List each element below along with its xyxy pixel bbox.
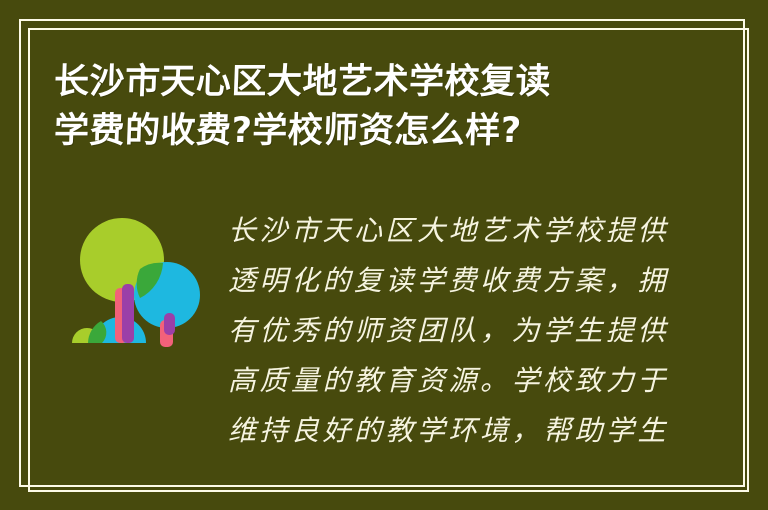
trees-illustration bbox=[70, 212, 202, 362]
poster-canvas: 长沙市天心区大地艺术学校复读 学费的收费?学校师资怎么样? bbox=[0, 0, 768, 510]
bush-overlap-shape-2 bbox=[88, 321, 106, 343]
body-line-3: 有优秀的师资团队，为学生提供 bbox=[228, 306, 678, 356]
body-line-1: 长沙市天心区大地艺术学校提供 bbox=[228, 206, 678, 256]
big-tree-trunk-purple bbox=[122, 284, 134, 343]
body-line-5: 维持良好的教学环境，帮助学生 bbox=[228, 406, 678, 456]
poster-title: 长沙市天心区大地艺术学校复读 学费的收费?学校师资怎么样? bbox=[54, 58, 674, 156]
title-line-1: 长沙市天心区大地艺术学校复读 bbox=[53, 58, 675, 107]
poster-body-text: 长沙市天心区大地艺术学校提供 透明化的复读学费收费方案，拥 有优秀的师资团队，为… bbox=[228, 206, 678, 456]
body-line-4: 高质量的教育资源。学校致力于 bbox=[228, 356, 678, 406]
body-line-2: 透明化的复读学费收费方案，拥 bbox=[228, 256, 678, 306]
cyan-tree-trunk-purple bbox=[164, 313, 175, 335]
title-line-2: 学费的收费?学校师资怎么样? bbox=[53, 107, 675, 156]
